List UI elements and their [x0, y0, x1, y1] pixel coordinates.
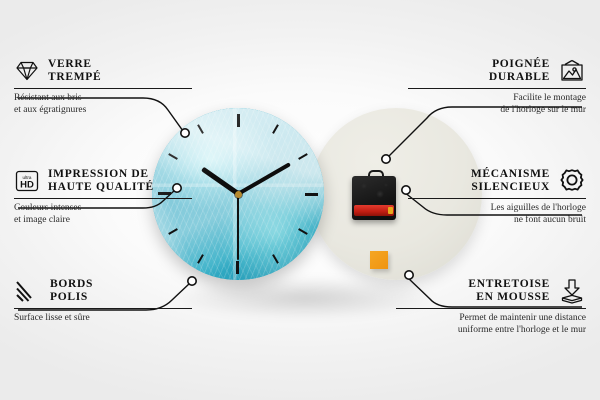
quartz-movement [352, 176, 396, 220]
callout-title: VERRE TREMPÉ [48, 58, 101, 84]
callout-title: BORDS POLIS [50, 278, 93, 304]
callout-header: VERRE TREMPÉ [14, 58, 192, 84]
callout-subtitle-line2: uniforme entre l'horloge et le mur [396, 325, 586, 337]
arrow-down-layers-icon [558, 278, 586, 304]
callout-subtitle-line2: et image claire [14, 215, 192, 227]
ultra-hd-badge-icon: ultra HD [14, 169, 40, 193]
callout-subtitle-line1: Les aiguilles de l'horloge [408, 203, 586, 215]
infographic-canvas: VERRE TREMPÉ Résistant aux bris et aux é… [0, 0, 600, 400]
callout-title: ENTRETOISE EN MOUSSE [468, 278, 550, 304]
callout-header: MÉCANISME SILENCIEUX [408, 168, 586, 194]
callout-subtitle-line1: Surface lisse et sûre [14, 313, 192, 325]
callout-poignee-durable[interactable]: POIGNÉE DURABLE Facilite le montage de l… [408, 58, 586, 116]
callout-subtitle-line1: Permet de maintenir une distance [396, 313, 586, 325]
callout-header: ultra HD IMPRESSION DE HAUTE QUALITÉ [14, 168, 192, 194]
callout-title: IMPRESSION DE HAUTE QUALITÉ [48, 168, 154, 194]
callout-subtitle-line2: de l'horloge sur le mur [408, 105, 586, 117]
foam-spacer [370, 251, 388, 269]
callout-subtitle-line1: Facilite le montage [408, 93, 586, 105]
callout-mecanisme-silencieux[interactable]: MÉCANISME SILENCIEUX Les aiguilles de l'… [408, 168, 586, 226]
callout-header: BORDS POLIS [14, 278, 192, 304]
diagonal-lines-icon [14, 279, 42, 303]
callout-divider [14, 88, 192, 89]
callout-verre-trempe[interactable]: VERRE TREMPÉ Résistant aux bris et aux é… [14, 58, 192, 116]
callout-title: MÉCANISME SILENCIEUX [471, 168, 550, 194]
callout-divider [14, 308, 192, 309]
gear-icon [558, 168, 586, 194]
callout-divider [14, 198, 192, 199]
callout-header: ENTRETOISE EN MOUSSE [396, 278, 586, 304]
callout-subtitle-line1: Couleurs intenses [14, 203, 192, 215]
battery [354, 205, 394, 216]
callout-entretoise-en-mousse[interactable]: ENTRETOISE EN MOUSSE Permet de maintenir… [396, 278, 586, 336]
movement-detail [356, 180, 392, 204]
callout-header: POIGNÉE DURABLE [408, 58, 586, 84]
callout-divider [408, 88, 586, 89]
picture-frame-icon [558, 59, 586, 83]
callout-title: POIGNÉE DURABLE [489, 58, 550, 84]
hd-label: HD [20, 180, 34, 191]
callout-subtitle-line1: Résistant aux bris [14, 93, 192, 105]
callout-bords-polis[interactable]: BORDS POLIS Surface lisse et sûre [14, 278, 192, 325]
callout-divider [408, 198, 586, 199]
diamond-icon [14, 59, 40, 83]
callout-subtitle-line2: et aux égratignures [14, 105, 192, 117]
callout-impression-haute-qualite[interactable]: ultra HD IMPRESSION DE HAUTE QUALITÉ Cou… [14, 168, 192, 226]
callout-divider [396, 308, 586, 309]
callout-subtitle-line2: ne font aucun bruit [408, 215, 586, 227]
